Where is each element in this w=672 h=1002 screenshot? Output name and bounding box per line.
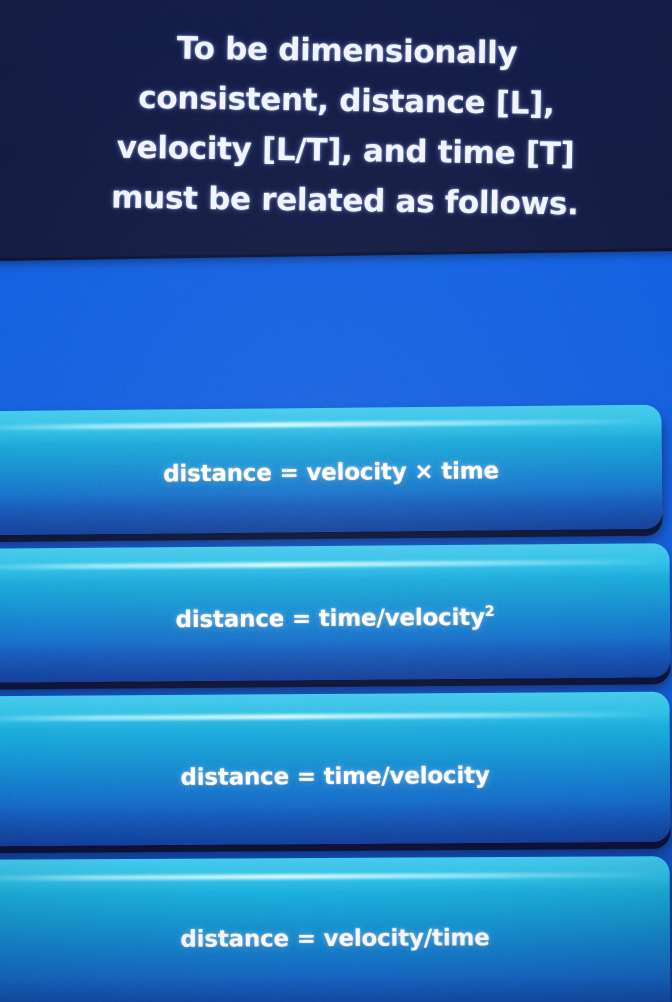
card-top-glow: [0, 692, 670, 731]
quiz-screen: To be dimensionally consistent, distance…: [0, 0, 672, 1002]
card-highlight-streak: [0, 419, 662, 431]
answer-option-4-label: distance = velocity/time: [0, 924, 670, 954]
answer-option-3-text: distance = time/velocity: [180, 763, 489, 791]
card-highlight-streak: [0, 712, 670, 722]
answer-option-1-label: distance = velocity × time: [0, 457, 662, 489]
answer-option-2-text: distance = time/velocity: [175, 605, 484, 633]
card-highlight-streak: [0, 559, 670, 569]
card-top-glow: [0, 405, 662, 446]
answer-option-2-exponent: 2: [485, 604, 495, 620]
answer-option-1-text: distance = velocity × time: [163, 458, 499, 487]
card-bottom-shade: [0, 637, 671, 682]
card-top-glow: [0, 856, 670, 894]
question-text: To be dimensionally consistent, distance…: [23, 21, 670, 231]
answer-option-4[interactable]: distance = velocity/time: [0, 856, 670, 1002]
card-bottom-shade: [0, 802, 670, 847]
answer-option-3[interactable]: distance = time/velocity: [0, 692, 670, 847]
card-top-glow: [0, 543, 670, 582]
card-highlight-streak: [0, 872, 670, 881]
answer-option-4-text: distance = velocity/time: [180, 925, 489, 953]
answer-option-1[interactable]: distance = velocity × time: [0, 405, 663, 536]
card-bottom-shade: [0, 489, 663, 536]
card-bottom-shade: [0, 976, 670, 1002]
answer-option-3-label: distance = time/velocity: [0, 762, 670, 792]
question-line-4: must be related as follows.: [23, 171, 668, 231]
answer-option-2[interactable]: distance = time/velocity2: [0, 543, 671, 682]
answer-option-2-label: distance = time/velocity2: [0, 603, 670, 634]
